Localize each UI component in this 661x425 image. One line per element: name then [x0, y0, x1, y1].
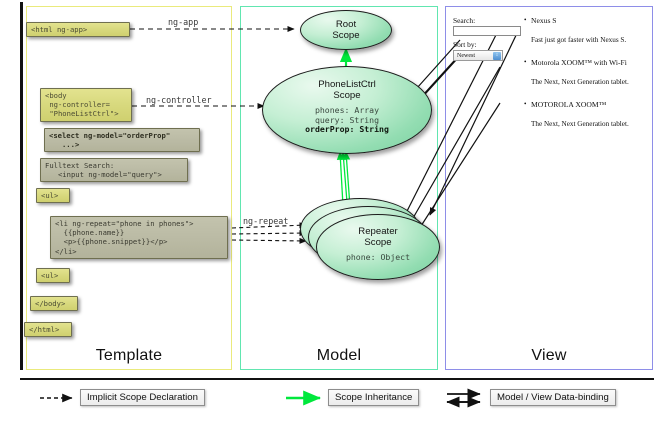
view-phone-name-0[interactable]: Nexus S [531, 16, 557, 25]
view-phone-name-2[interactable]: MOTOROLA XOOM™ [531, 100, 606, 109]
legend-model-view-data-binding: Model / View Data-binding [490, 389, 616, 406]
scope-phonelistctrl-props: phones: Array query: String [263, 106, 431, 125]
sort-by-select[interactable]: Newest ↕ [453, 50, 503, 61]
diagram-canvas: Template Model View [0, 0, 661, 425]
connector-label-ng-controller: ng-controller [146, 95, 212, 105]
search-input[interactable] [453, 26, 521, 36]
view-phone-snippet-1: The Next, Next Generation tablet. [531, 78, 629, 86]
scope-root-title-line1: Root [301, 19, 391, 30]
sort-by-select-value: Newest [457, 53, 475, 59]
scope-repeater-title-line1: Repeater [317, 226, 439, 237]
scope-phonelistctrl: PhoneListCtrl Scope phones: Array query:… [262, 66, 432, 154]
view-phone-snippet-2: The Next, Next Generation tablet. [531, 120, 629, 128]
scope-repeater-props: phone: Object [317, 253, 439, 263]
template-box-fulltext-search: Fulltext Search: <input ng-model="query"… [40, 158, 188, 182]
frame-bottom-edge [20, 378, 654, 380]
scope-root-title-line2: Scope [301, 30, 391, 41]
view-phone-snippet-0: Fast just got faster with Nexus S. [531, 36, 626, 44]
column-model: Model [240, 6, 438, 370]
view-sort-label: Sort by: [453, 40, 477, 49]
legend-implicit-scope-declaration: Implicit Scope Declaration [80, 389, 205, 406]
view-phone-name-1[interactable]: Motorola XOOM™ with Wi-Fi [531, 58, 627, 67]
column-label-view: View [446, 347, 652, 365]
scope-repeater-title-line2: Scope [317, 237, 439, 248]
template-box-ul-close: <ul> [36, 268, 70, 283]
template-box-select-orderprop: <select ng-model="orderProp" ...> [44, 128, 200, 152]
column-label-model: Model [241, 347, 437, 365]
template-box-ul-open: <ul> [36, 188, 70, 203]
template-box-li-ng-repeat: <li ng-repeat="phone in phones"> {{phone… [50, 216, 228, 259]
template-box-html-tag: <html ng-app> [26, 22, 130, 37]
template-box-body-controller: <body ng-controller= "PhoneListCtrl"> [40, 88, 132, 122]
connector-label-ng-app: ng-app [168, 17, 198, 27]
template-box-html-close: </html> [24, 322, 72, 337]
template-box-body-close: </body> [30, 296, 78, 311]
scope-phonelistctrl-props-orderprop: orderProp: String [263, 125, 431, 135]
connector-label-ng-repeat: ng-repeat [243, 216, 288, 226]
scope-phonelistctrl-title-line2: Scope [263, 90, 431, 101]
frame-left-edge [20, 2, 23, 370]
scope-root: Root Scope [300, 10, 392, 50]
view-search-label: Search: [453, 16, 475, 25]
legend-scope-inheritance: Scope Inheritance [328, 389, 419, 406]
column-label-template: Template [27, 347, 231, 365]
chevron-updown-icon: ↕ [493, 52, 501, 60]
scope-phonelistctrl-title-line1: PhoneListCtrl [263, 79, 431, 90]
scope-repeater: Repeater Scope phone: Object [316, 214, 440, 280]
legend: Implicit Scope Declaration Scope Inherit… [20, 386, 654, 420]
